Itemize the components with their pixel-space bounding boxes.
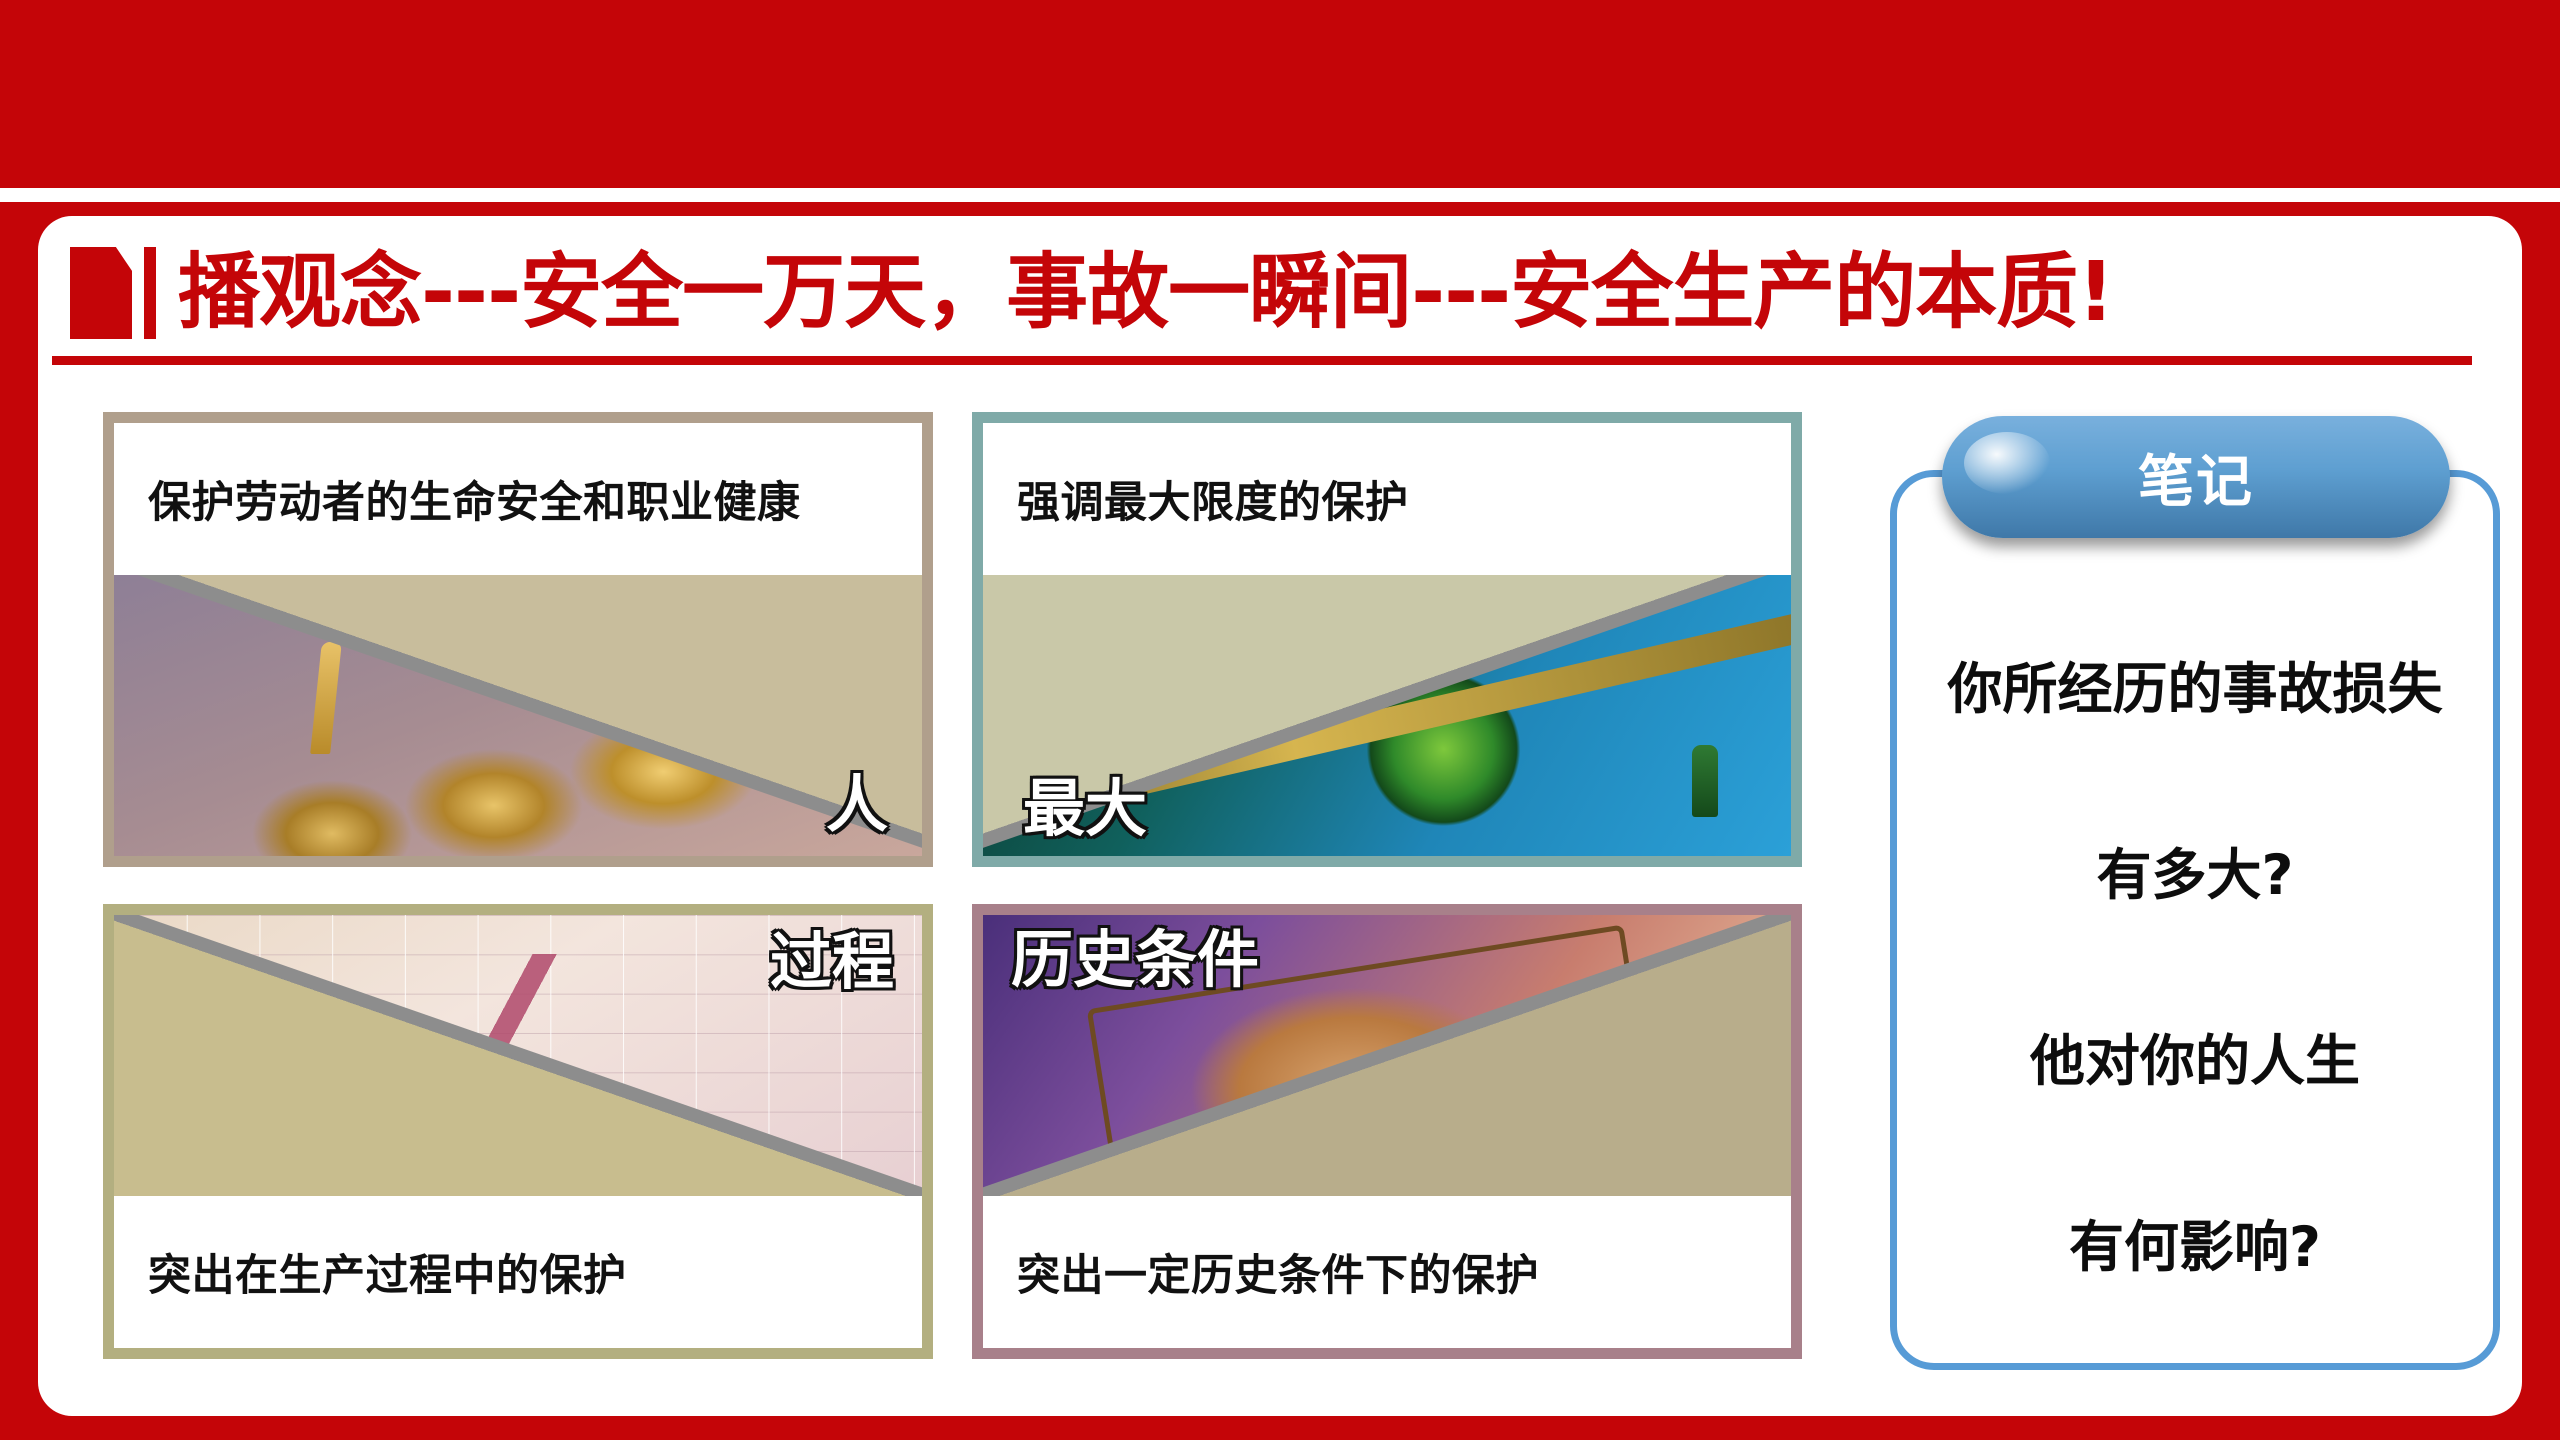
card-tag: 最大 xyxy=(1023,778,1147,840)
trap-figurine xyxy=(1700,1050,1734,1168)
card-production-process[interactable]: 过程 突出在生产过程中的保护 xyxy=(103,904,933,1359)
card-caption: 突出在生产过程中的保护 xyxy=(114,1196,922,1348)
band-gap xyxy=(0,188,2560,202)
notes-header-label: 笔记 xyxy=(2138,437,2254,518)
card-caption: 突出一定历史条件下的保护 xyxy=(983,1196,1791,1348)
notes-line: 有何影响? xyxy=(2069,1217,2321,1278)
chart-photo: 过程 xyxy=(114,915,922,1196)
slide-header: 播观念---安全一万天，事故一瞬间---安全生产的本质! xyxy=(52,232,2472,354)
title-underline-rule xyxy=(52,356,2472,365)
document-page-icon xyxy=(52,239,164,347)
slide-root: 播观念---安全一万天，事故一瞬间---安全生产的本质! 保护劳动者的生命安全和… xyxy=(0,0,2560,1440)
globe-photo: 最大 xyxy=(983,575,1791,856)
notes-line: 你所经历的事故损失 xyxy=(1947,659,2442,720)
card-historical-conditions[interactable]: 历史条件 突出一定历史条件下的保护 xyxy=(972,904,1802,1359)
notes-line: 有多大? xyxy=(2097,845,2294,906)
card-tag: 过程 xyxy=(770,931,894,993)
notes-line: 他对你的人生 xyxy=(2030,1031,2360,1092)
notes-panel: 笔记 你所经历的事故损失 有多大? 他对你的人生 有何影响? xyxy=(1890,470,2500,1370)
card-protect-life[interactable]: 保护劳动者的生命安全和职业健康 人 xyxy=(103,412,933,867)
card-caption: 保护劳动者的生命安全和职业健康 xyxy=(114,423,922,575)
mousetrap-photo: 历史条件 xyxy=(983,915,1791,1196)
page-title: 播观念---安全一万天，事故一瞬间---安全生产的本质! xyxy=(178,252,2114,334)
coins-photo: 人 xyxy=(114,575,922,856)
notes-body: 你所经历的事故损失 有多大? 他对你的人生 有何影响? xyxy=(1890,588,2500,1348)
card-tag: 人 xyxy=(826,774,888,836)
card-caption: 强调最大限度的保护 xyxy=(983,423,1791,575)
notes-header-pill[interactable]: 笔记 xyxy=(1942,416,2450,538)
globe-figurine xyxy=(1692,745,1718,817)
top-red-band xyxy=(0,0,2560,188)
card-tag: 历史条件 xyxy=(1011,929,1259,991)
coin-figurine xyxy=(310,642,342,754)
diagonal-overlay xyxy=(114,575,922,856)
chart-figurine xyxy=(300,1051,346,1179)
cards-grid: 保护劳动者的生命安全和职业健康 人 强调最大限度的保护 最大 xyxy=(103,412,1813,1372)
card-maximum-protection[interactable]: 强调最大限度的保护 最大 xyxy=(972,412,1802,867)
gloss-highlight xyxy=(1964,432,2050,494)
